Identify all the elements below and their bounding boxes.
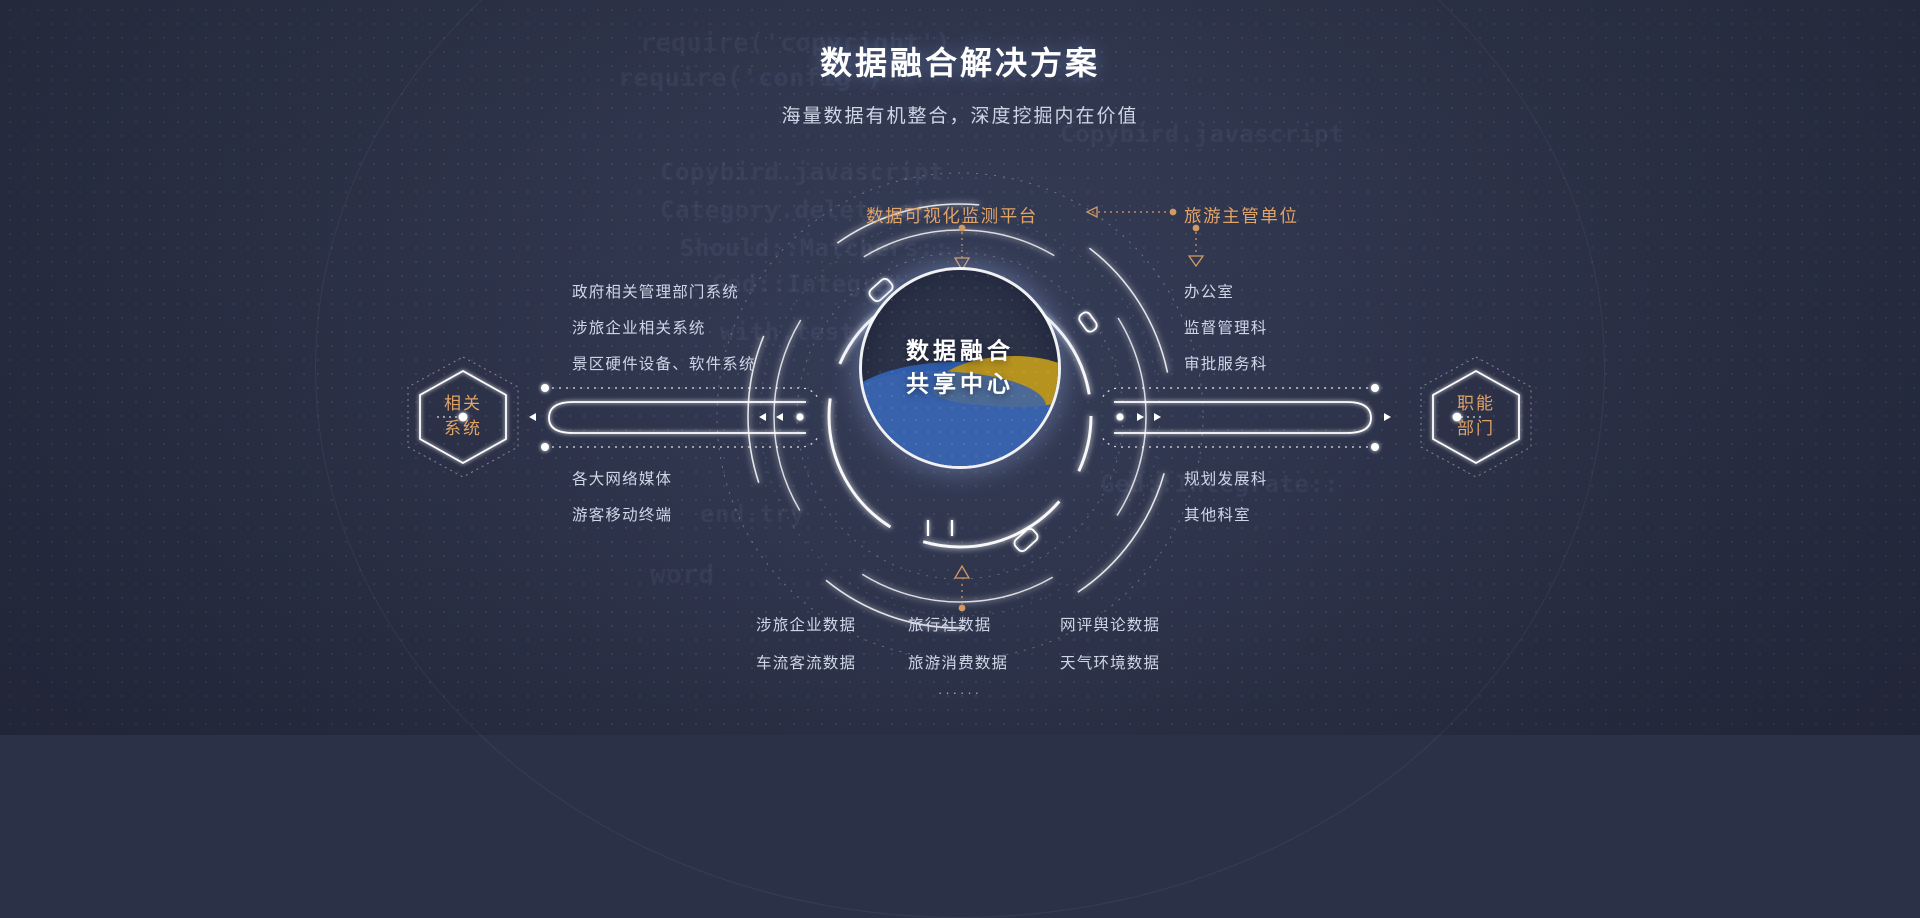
badge-left-related-systems[interactable]: 相关 系统 xyxy=(404,355,522,479)
badge-right-line1: 职能 xyxy=(1457,392,1495,417)
right-item-1[interactable]: 监督管理科 xyxy=(1184,316,1268,338)
right-item-3[interactable]: 规划发展科 xyxy=(1184,467,1268,489)
bottom-item-r1c3[interactable]: 网评舆论数据 xyxy=(1060,613,1160,635)
badge-left-text: 相关 系统 xyxy=(404,355,522,479)
bottom-item-r1c2[interactable]: 旅行社数据 xyxy=(908,613,992,635)
left-item-1[interactable]: 涉旅企业相关系统 xyxy=(572,316,706,338)
left-item-4[interactable]: 游客移动终端 xyxy=(572,503,672,525)
core-label-line2: 共享中心 xyxy=(860,368,1060,401)
left-item-2[interactable]: 景区硬件设备、软件系统 xyxy=(572,352,756,374)
bottom-item-r2c1[interactable]: 车流客流数据 xyxy=(756,651,856,673)
right-item-0[interactable]: 办公室 xyxy=(1184,280,1234,302)
bottom-orange-connector xyxy=(955,566,969,611)
core-label-line1: 数据融合 xyxy=(860,334,1060,367)
left-item-0[interactable]: 政府相关管理部门系统 xyxy=(572,280,739,302)
page-title: 数据融合解决方案 xyxy=(0,38,1920,84)
bottom-item-r2c3[interactable]: 天气环境数据 xyxy=(1060,651,1160,673)
header: 数据融合解决方案 海量数据有机整合，深度挖掘内在价值 xyxy=(0,38,1920,128)
left-item-3[interactable]: 各大网络媒体 xyxy=(572,467,672,489)
bottom-item-r2c2[interactable]: 旅游消费数据 xyxy=(908,651,1008,673)
badge-right-line2: 部门 xyxy=(1457,417,1495,442)
badge-right-text: 职能 部门 xyxy=(1417,355,1535,479)
bottom-ellipsis: ······ xyxy=(938,685,982,700)
page-subtitle: 海量数据有机整合，深度挖掘内在价值 xyxy=(0,101,1920,128)
badge-left-line1: 相关 xyxy=(444,392,482,417)
badge-left-line2: 系统 xyxy=(444,417,482,442)
node-data-visualization-platform[interactable]: 数据可视化监测平台 xyxy=(866,203,1038,228)
node-tourism-authority[interactable]: 旅游主管单位 xyxy=(1184,203,1299,228)
badge-right-functional-depts[interactable]: 职能 部门 xyxy=(1417,355,1535,479)
right-item-4[interactable]: 其他科室 xyxy=(1184,503,1251,525)
core-label: 数据融合 共享中心 xyxy=(860,334,1060,401)
right-item-2[interactable]: 审批服务科 xyxy=(1184,352,1268,374)
bottom-item-r1c1[interactable]: 涉旅企业数据 xyxy=(756,613,856,635)
